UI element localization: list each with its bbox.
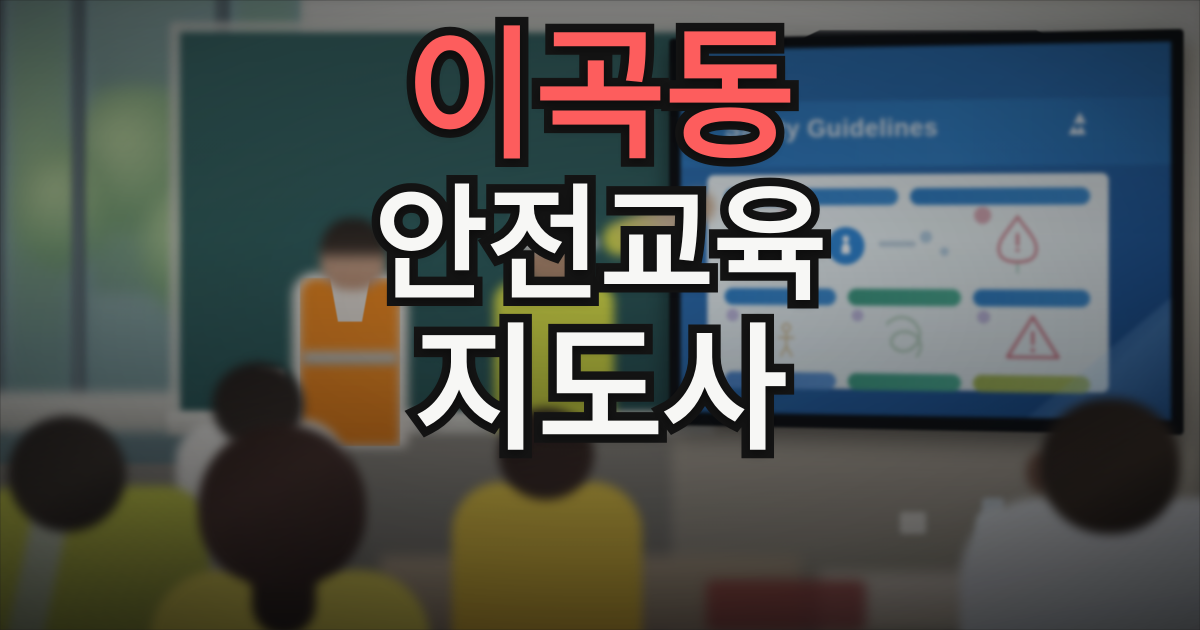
title-overlay: 이곡동 안전교육 지도사 [0, 0, 1200, 630]
title-line-topic: 안전교육 [374, 184, 826, 308]
title-line-location: 이곡동 [406, 26, 795, 168]
thumbnail-card: Safety Guidelines [0, 0, 1200, 630]
title-line-qualification: 지도사 [414, 322, 786, 458]
